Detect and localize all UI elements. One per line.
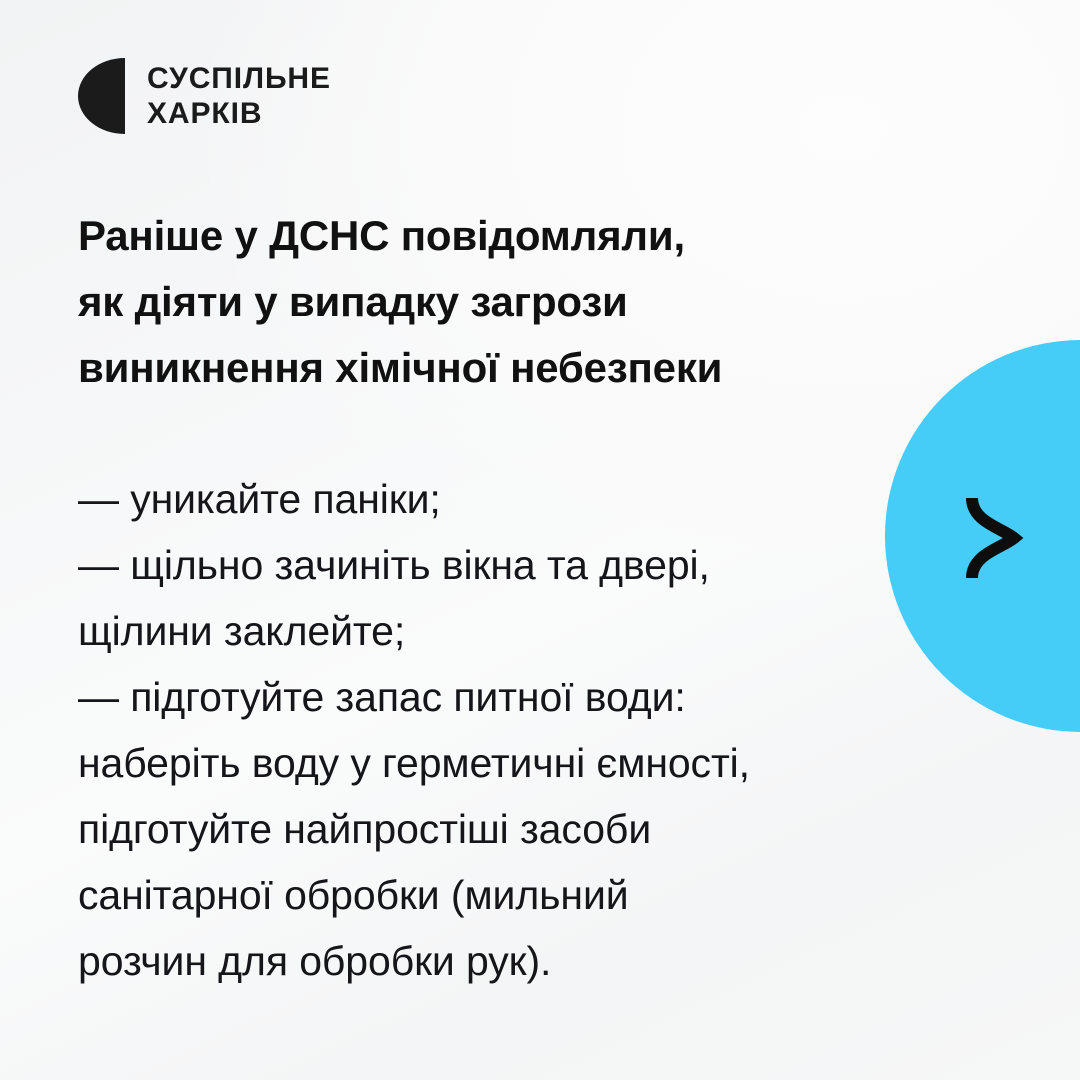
headline-line: як діяти у випадку загрози (78, 269, 978, 335)
brand-logo: СУСПІЛЬНЕ ХАРКІВ (78, 58, 331, 134)
brand-name-line-1: СУСПІЛЬНЕ (147, 61, 331, 96)
body-line: — підготуйте запас питної води: (78, 664, 958, 730)
social-card: СУСПІЛЬНЕ ХАРКІВ Раніше у ДСНС повідомля… (0, 0, 1080, 1080)
headline: Раніше у ДСНС повідомляли, як діяти у ви… (78, 203, 978, 401)
headline-line: Раніше у ДСНС повідомляли, (78, 203, 978, 269)
headline-line: виникнення хімічної небезпеки (78, 335, 978, 401)
body-copy: — уникайте паніки; — щільно зачиніть вік… (78, 466, 958, 994)
brand-name-line-2: ХАРКІВ (147, 96, 331, 131)
half-disc-logo-mark (78, 58, 125, 134)
body-line: — щільно зачиніть вікна та двері, (78, 532, 958, 598)
body-line: щілини заклейте; (78, 598, 958, 664)
brand-name: СУСПІЛЬНЕ ХАРКІВ (147, 61, 331, 131)
body-line: — уникайте паніки; (78, 466, 958, 532)
body-line: санітарної обробки (мильний (78, 862, 958, 928)
body-line: наберіть воду у герметичні ємності, (78, 730, 958, 796)
body-line: підготуйте найпростіші засоби (78, 796, 958, 862)
body-line: розчин для обробки рук). (78, 928, 958, 994)
